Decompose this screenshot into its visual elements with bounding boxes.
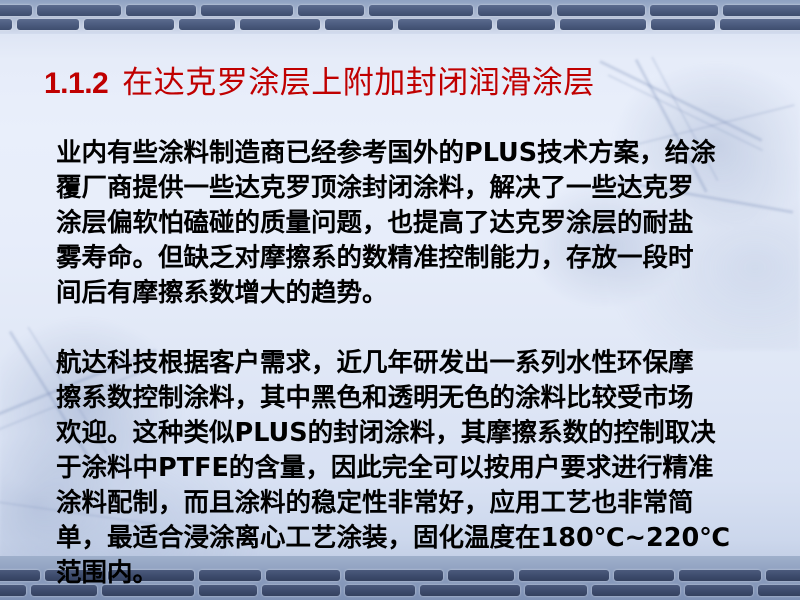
body-line: 航达科技根据客户需求，近几年研发出一系列水性环保摩 [56, 346, 768, 381]
slide-title: 1.1.2在达克罗涂层上附加封闭润滑涂层 [44, 68, 595, 99]
body-line: 涂料配制，而且涂料的稳定性非常好，应用工艺也非常简 [56, 486, 768, 521]
body-line: 覆厂商提供一些达克罗顶涂封闭涂料，解决了一些达克罗 [56, 171, 768, 206]
body-line: 擦系数控制涂料，其中黑色和透明无色的涂料比较受市场 [56, 381, 768, 416]
body-line: 范围内。 [56, 556, 768, 591]
body-line: 雾寿命。但缺乏对摩擦系的数精准控制能力，存放一段时 [56, 241, 768, 276]
brick-row [0, 5, 800, 16]
brick-row [0, 19, 800, 30]
body-line: 欢迎。这种类似PLUS的封闭涂料，其摩擦系数的控制取决 [56, 416, 768, 451]
top-brick-border [0, 0, 800, 34]
title-number: 1.1.2 [44, 67, 108, 100]
title-heading: 在达克罗涂层上附加封闭润滑涂层 [122, 65, 595, 101]
scaffold-line [599, 60, 762, 142]
body-line: 间后有摩擦系数增大的趋势。 [56, 276, 768, 311]
body-line: 涂层偏软怕磕碰的质量问题，也提高了达克罗涂层的耐盐 [56, 206, 768, 241]
body-line: 单，最适合浸涂离心工艺涂装，固化温度在180℃~220℃ [56, 521, 768, 556]
slide-canvas: 1.1.2在达克罗涂层上附加封闭润滑涂层 业内有些涂料制造商已经参考国外的PLU… [0, 0, 800, 600]
body-line: 业内有些涂料制造商已经参考国外的PLUS技术方案，给涂 [56, 136, 768, 171]
body-paragraph-2: 航达科技根据客户需求，近几年研发出一系列水性环保摩 擦系数控制涂料，其中黑色和透… [56, 346, 768, 591]
body-line: 于涂料中PTFE的含量，因此完全可以按用户要求进行精准 [56, 451, 768, 486]
body-paragraph-1: 业内有些涂料制造商已经参考国外的PLUS技术方案，给涂 覆厂商提供一些达克罗顶涂… [56, 136, 768, 311]
slide-body: 业内有些涂料制造商已经参考国外的PLUS技术方案，给涂 覆厂商提供一些达克罗顶涂… [56, 136, 768, 591]
